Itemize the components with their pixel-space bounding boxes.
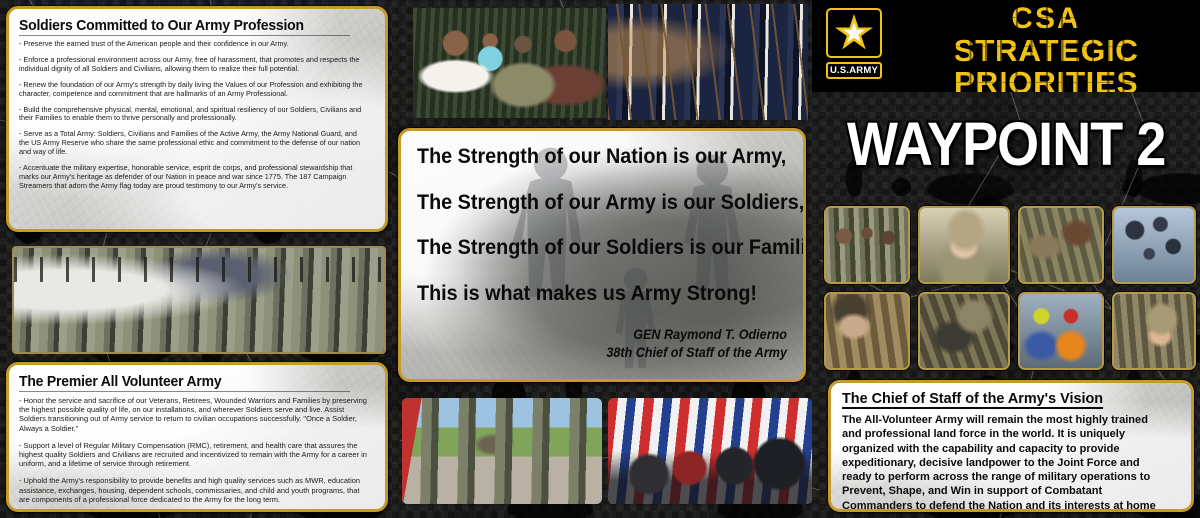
profession-bullet: - Preserve the earned trust of the Ameri…: [19, 40, 368, 49]
waypoint-heading: WAYPOINT 2: [812, 96, 1200, 192]
header-title-csa: CSA: [898, 4, 1194, 35]
logo-square-frame: [826, 8, 882, 58]
photo-grid: [824, 206, 1196, 372]
profession-bullet: - Accentuate the military expertise, hon…: [19, 164, 368, 191]
profession-bullet: - Renew the foundation of our Army's str…: [19, 81, 368, 99]
workers-hardhats-photo: [1018, 292, 1104, 370]
saluting-veterans-with-flags-photo: [608, 398, 812, 504]
vision-panel-body: The All-Volunteer Army will remain the m…: [842, 413, 1170, 512]
soldier-with-family-photo: [413, 8, 606, 118]
volunteer-bullet: - Support a level of Regular Military Co…: [19, 441, 368, 469]
profession-panel-title: Soldiers Committed to Our Army Professio…: [19, 17, 350, 36]
waypoint-label: WAYPOINT 2: [847, 108, 1165, 179]
quote-line: The Strength of our Soldiers is our Fami…: [417, 236, 757, 259]
color-guard-ceremony-photo: [402, 398, 602, 504]
soldier-writing-notes-photo: [1112, 292, 1196, 370]
soldier-portrait-helmet-photo: [918, 206, 1010, 284]
us-army-wordmark: U.S.ARMY: [826, 62, 882, 79]
soldiers-committed-panel: Soldiers Committed to Our Army Professio…: [6, 6, 388, 232]
volunteer-bullet: - Honor the service and sacrifice of our…: [19, 396, 368, 433]
quote-attribution-name: GEN Raymond T. Odierno: [454, 327, 787, 343]
paratroopers-airdrop-photo: [1112, 206, 1196, 284]
profession-bullet: - Build the comprehensive physical, ment…: [19, 106, 368, 124]
soldiers-group-seated-photo: [824, 206, 910, 284]
profession-bullet: - Serve as a Total Army: Soldiers, Civil…: [19, 130, 368, 157]
profession-bullet: - Enforce a professional environment acr…: [19, 56, 368, 74]
soldiers-aiming-weapons-photo: [1018, 206, 1104, 284]
soldiers-with-equipment-photo: [918, 292, 1010, 370]
vision-panel-title: The Chief of Staff of the Army's Vision: [842, 390, 1103, 409]
volunteer-panel-title: The Premier All Volunteer Army: [19, 373, 350, 392]
volunteer-bullet: - Uphold the Army's responsibility to pr…: [19, 476, 368, 504]
quote-line: The Strength of our Army is our Soldiers…: [417, 191, 757, 214]
soldiers-saluting-formation-photo: [12, 246, 386, 354]
army-star-logo: U.S.ARMY: [826, 8, 888, 84]
premier-all-volunteer-army-panel: The Premier All Volunteer Army - Honor t…: [6, 362, 388, 512]
soldier-with-convoy-photo: [824, 292, 910, 370]
honor-guard-formation-photo: [608, 4, 808, 120]
header-title-strategic-priorities: STRATEGIC PRIORITIES: [895, 35, 1197, 92]
csa-strategic-priorities-poster: Soldiers Committed to Our Army Professio…: [0, 0, 1200, 518]
header-titles: CSA STRATEGIC PRIORITIES: [898, 4, 1194, 92]
chief-of-staff-vision-panel: The Chief of Staff of the Army's Vision …: [828, 380, 1194, 512]
quote-line: The Strength of our Nation is our Army,: [417, 145, 757, 168]
poster-header-bar: U.S.ARMY CSA STRATEGIC PRIORITIES: [812, 0, 1200, 92]
quote-line: This is what makes us Army Strong!: [417, 282, 757, 305]
quote-attribution-title: 38th Chief of Staff of the Army: [454, 345, 787, 361]
army-strong-quote-panel: The Strength of our Nation is our Army, …: [398, 128, 806, 382]
